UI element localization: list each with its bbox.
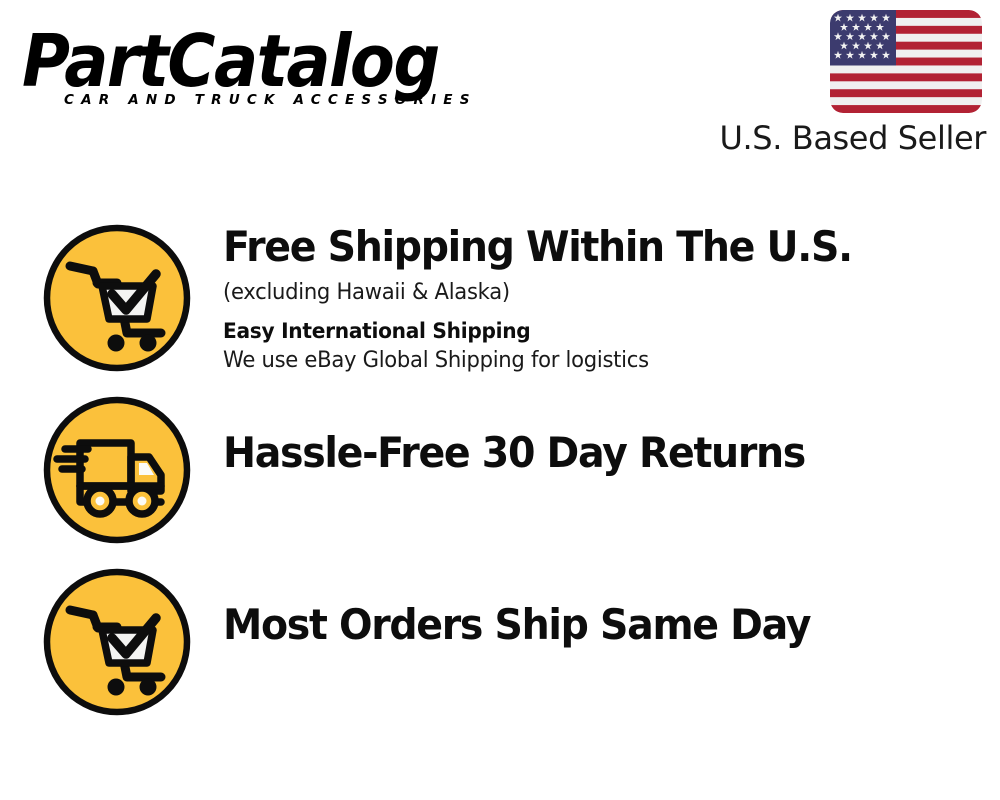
- brand-tagline: CAR AND TRUCK ACCESSORIES: [64, 92, 477, 108]
- feature-text: Hassle-Free 30 Day Returns: [223, 394, 983, 478]
- feature-text: Most Orders Ship Same Day: [223, 566, 983, 650]
- feature-row: Free Shipping Within The U.S. (excluding…: [0, 222, 1000, 382]
- feature-row: Hassle-Free 30 Day Returns: [0, 394, 1000, 554]
- seller-label: U.S. Based Seller: [714, 119, 986, 157]
- feature-subdetail: We use eBay Global Shipping for logistic…: [223, 346, 953, 376]
- page-header: PartCatalog CAR AND TRUCK ACCESSORIES: [0, 0, 1000, 175]
- feature-subnote: (excluding Hawaii & Alaska): [223, 278, 953, 308]
- feature-row: Most Orders Ship Same Day: [0, 566, 1000, 726]
- feature-subheading: Easy International Shipping: [223, 316, 953, 346]
- delivery-truck-icon: [41, 394, 193, 546]
- shopping-cart-check-icon: [41, 222, 193, 374]
- feature-title: Most Orders Ship Same Day: [223, 600, 937, 650]
- feature-title: Hassle-Free 30 Day Returns: [223, 428, 937, 478]
- shopping-cart-check-icon: [41, 566, 193, 718]
- us-based-seller-badge: U.S. Based Seller: [714, 10, 986, 157]
- brand-wordmark: PartCatalog: [22, 22, 511, 102]
- brand-logo[interactable]: PartCatalog CAR AND TRUCK ACCESSORIES: [22, 22, 492, 114]
- us-flag-icon: [830, 10, 982, 113]
- feature-title: Free Shipping Within The U.S.: [223, 222, 937, 272]
- feature-text: Free Shipping Within The U.S. (excluding…: [223, 222, 983, 376]
